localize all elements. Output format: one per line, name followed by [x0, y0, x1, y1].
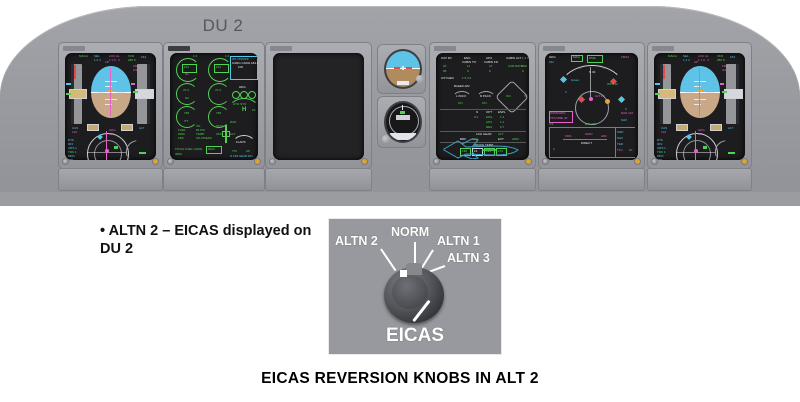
knob-collar	[406, 263, 422, 275]
nd-screen: HDG 311 MAG DME FMS1 0 N 33 3 Green WPT …	[545, 53, 638, 160]
bezel-tab	[270, 46, 292, 51]
leader-line-norm	[414, 242, 416, 264]
display-unit-synoptic[interactable]: OAT FD ENG CABIN TO APU CABIN FD CABIN A…	[429, 42, 536, 169]
attitude-indicator	[680, 66, 720, 118]
knob-label-altn2: ALTN 2	[335, 234, 378, 248]
bezel-tab	[168, 46, 190, 51]
bezel-tab	[63, 46, 85, 51]
panel-lower-edge	[0, 192, 800, 206]
leader-line-altn2	[380, 248, 396, 271]
left-pfd-base	[58, 168, 163, 191]
caption-bullet: • ALTN 2 – EICAS displayed on DU 2	[100, 222, 325, 258]
knob-label-altn1: ALTN 1	[437, 234, 480, 248]
knob-position-marker	[400, 270, 407, 277]
standby-attitude-indicator[interactable]	[377, 44, 426, 94]
nd-base	[538, 168, 645, 191]
knob-inner	[392, 275, 428, 309]
cockpit-panel: DU 2 MACH SEL 1 2 4 LOC AL 1 1 0 . 3 VFR…	[0, 6, 800, 196]
right-pfd-screen: MACH SEL 1 2 4 LOC AL 1 1 0 . 3 VFR 280 …	[654, 53, 745, 160]
bezel-screw	[62, 158, 69, 165]
blank-screen	[273, 53, 364, 160]
synoptic-base	[429, 168, 536, 191]
eicas-reversion-knob[interactable]	[384, 267, 444, 323]
eicas-panel-label: EICAS	[329, 325, 501, 347]
eicas-screen: 101 N1 1 0 101 1 0 70.3 N2 70.3 798 ITT …	[170, 53, 258, 160]
display-unit-left-pfd[interactable]: MACH SEL 1 2 4 LOC AL 1 1 0 . 3 VFR 280 …	[58, 42, 163, 169]
eicas-base	[163, 168, 265, 191]
bezel-tab	[652, 46, 674, 51]
bezel-screw	[152, 158, 159, 165]
right-pfd-base	[647, 168, 752, 191]
aircraft-silhouette-icon	[442, 135, 522, 159]
figure-title: EICAS REVERSION KNOBS IN ALT 2	[0, 370, 800, 388]
eicas-reversion-knob-panel: ALTN 2 NORM ALTN 1 ALTN 3 EICAS	[328, 218, 502, 355]
display-unit-nd[interactable]: HDG 311 MAG DME FMS1 0 N 33 3 Green WPT …	[538, 42, 645, 169]
standby-compass-indicator[interactable]	[377, 96, 426, 148]
knob-label-norm: NORM	[391, 225, 429, 239]
bezel-tab	[434, 46, 456, 51]
display-unit-eicas[interactable]: 101 N1 1 0 101 1 0 70.3 N2 70.3 798 ITT …	[163, 42, 265, 169]
bezel-tab	[543, 46, 565, 51]
display-unit-right-pfd[interactable]: MACH SEL 1 2 4 LOC AL 1 1 0 . 3 VFR 280 …	[647, 42, 752, 169]
attitude-indicator	[91, 66, 131, 118]
du2-callout-label: DU 2	[178, 16, 268, 36]
left-pfd-screen: MACH SEL 1 2 4 LOC AL 1 1 0 . 3 VFR 280 …	[65, 53, 156, 160]
knob-label-altn3: ALTN 3	[447, 251, 490, 265]
display-unit-blank[interactable]	[265, 42, 372, 169]
synoptic-screen: OAT FD ENG CABIN TO APU CABIN FD CABIN A…	[436, 53, 529, 160]
blank-base	[265, 168, 372, 191]
